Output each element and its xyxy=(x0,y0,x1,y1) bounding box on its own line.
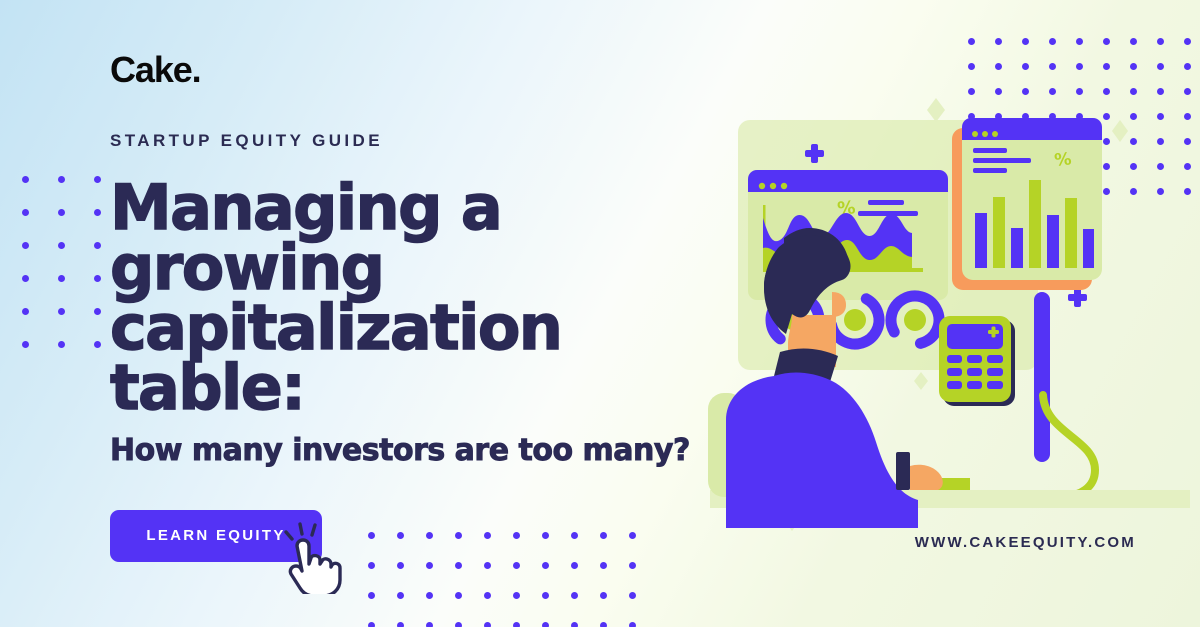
calculator-icon xyxy=(939,316,1015,406)
learn-equity-button[interactable]: LEARN EQUITY xyxy=(110,510,322,562)
headline-line-1: Managing a growing xyxy=(110,171,501,304)
page-title: Managing a growing capitalization table: xyxy=(110,178,750,419)
eyebrow-label: STARTUP EQUITY GUIDE xyxy=(110,131,750,151)
website-url[interactable]: WWW.CAKEEQUITY.COM xyxy=(915,534,1136,551)
cake-logo[interactable]: Cake. xyxy=(110,52,750,88)
hero-content: Cake. STARTUP EQUITY GUIDE Managing a gr… xyxy=(110,52,750,562)
headline-line-2: capitalization table: xyxy=(110,298,750,418)
svg-text:%: % xyxy=(1053,149,1072,171)
subheadline: How many investors are too many? xyxy=(110,433,750,468)
dashboard-window-bar-chart: % xyxy=(952,118,1102,290)
cta-wrapper: LEARN EQUITY xyxy=(110,510,340,562)
monitor-stand-and-cable xyxy=(1023,282,1200,496)
hero-illustration: % % xyxy=(700,0,1200,627)
